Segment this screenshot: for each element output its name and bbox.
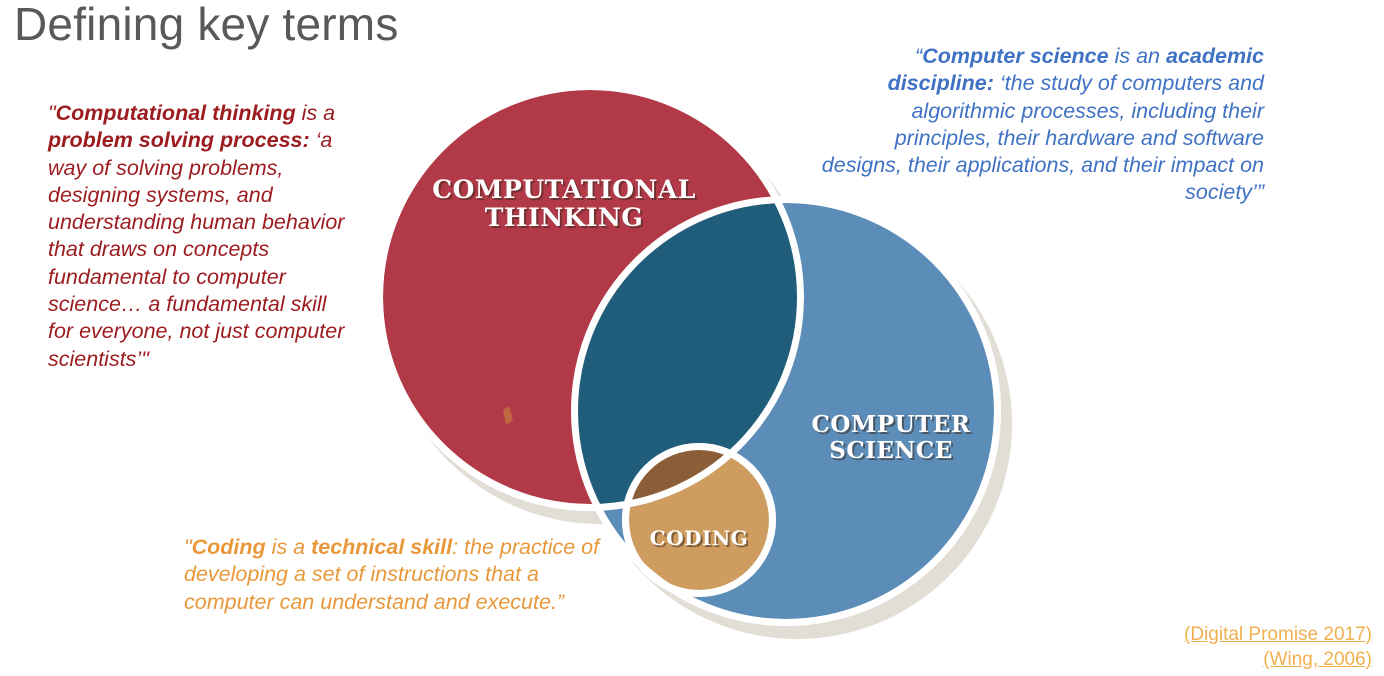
- slide-canvas: Defining key terms: [0, 0, 1384, 676]
- quote-coding-open: ": [184, 535, 192, 559]
- citation-link-digital-promise[interactable]: (Digital Promise 2017): [1184, 622, 1372, 647]
- quote-ct-term: Computational thinking: [56, 101, 296, 125]
- citations: (Digital Promise 2017) (Wing, 2006): [1184, 622, 1372, 672]
- quote-computer-science: “Computer science is an academic discipl…: [812, 43, 1264, 207]
- page-title: Defining key terms: [14, 0, 399, 51]
- venn-label-coding: CODING: [621, 527, 777, 549]
- quote-coding: "Coding is a technical skill: the practi…: [184, 534, 604, 616]
- quote-ct-open: ": [48, 101, 56, 125]
- quote-cs-mid: is an: [1109, 44, 1166, 68]
- quote-ct-mid: is a: [296, 101, 335, 125]
- circle-coding[interactable]: [629, 450, 769, 590]
- venn-label-computer-science: COMPUTER SCIENCE: [782, 412, 1000, 464]
- quote-coding-label: technical skill: [311, 535, 452, 559]
- citation-link-wing[interactable]: (Wing, 2006): [1184, 647, 1372, 672]
- quote-computational-thinking: "Computational thinking is a problem sol…: [48, 100, 348, 373]
- quote-coding-mid: is a: [266, 535, 311, 559]
- quote-cs-term: Computer science: [922, 44, 1108, 68]
- venn-label-computational-thinking: COMPUTATIONAL THINKING: [406, 176, 722, 232]
- quote-ct-body: ‘a way of solving problems, designing sy…: [48, 128, 344, 370]
- quote-ct-label: problem solving process:: [48, 128, 310, 152]
- quote-coding-term: Coding: [192, 535, 266, 559]
